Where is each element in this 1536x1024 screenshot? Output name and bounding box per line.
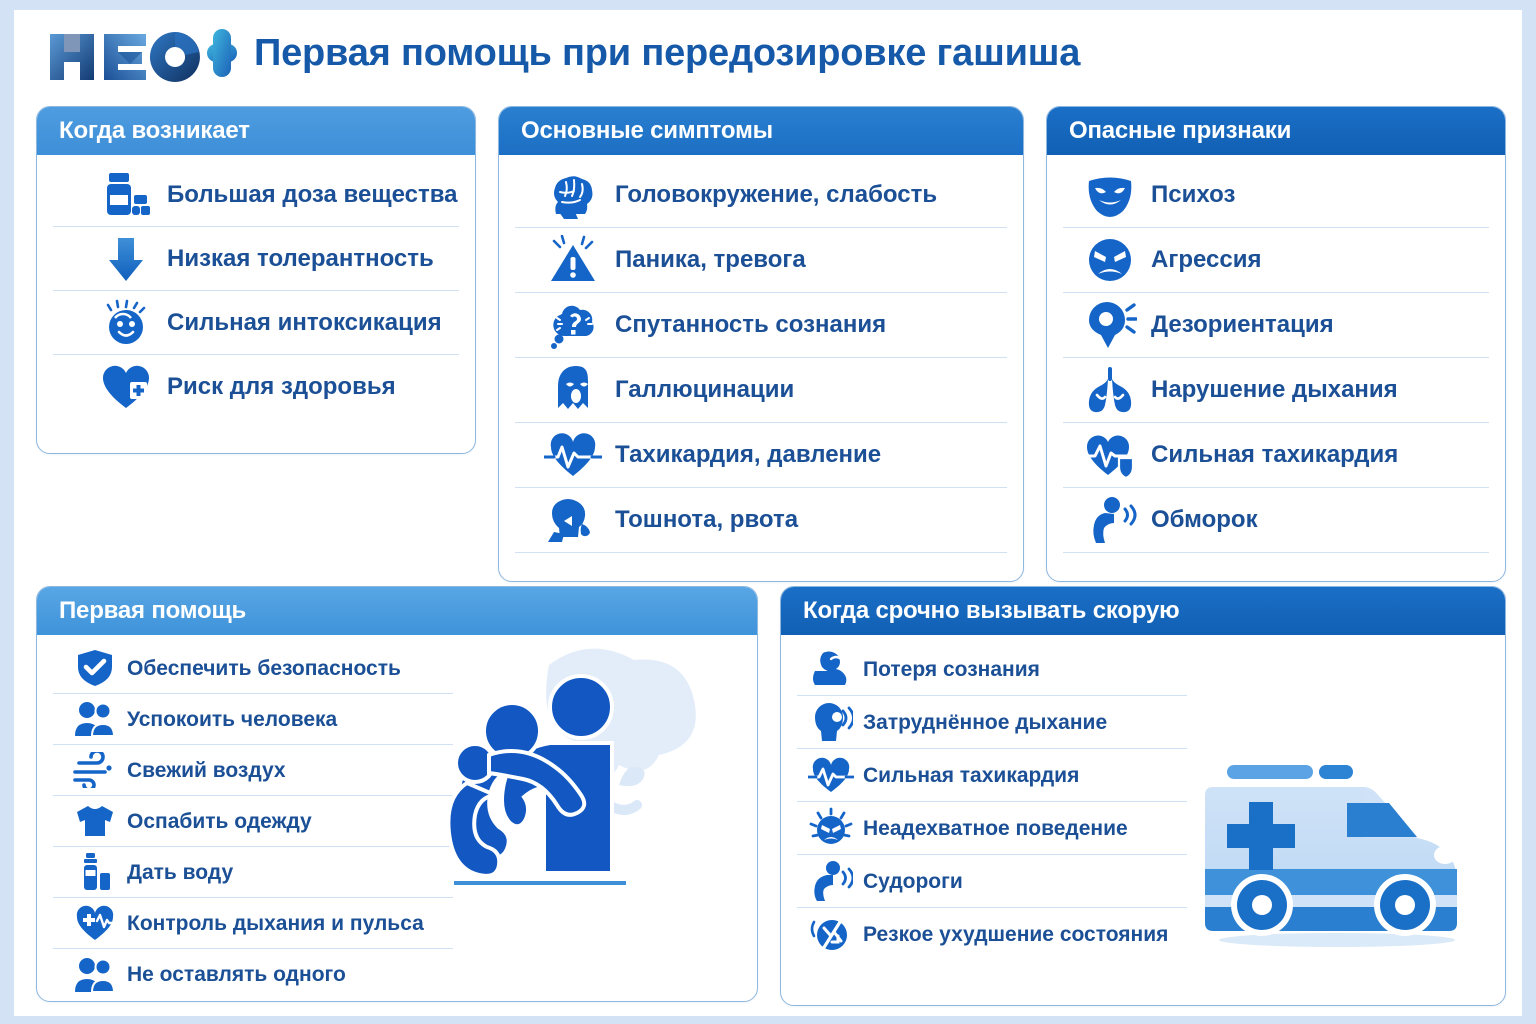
list-item[interactable]: Дать воду [53,847,453,898]
list-item-label: Свежий воздух [127,760,286,781]
heart-cross-pulse-icon [71,901,119,945]
aid-list: Обеспечить безопасность Успокоить челове… [53,643,453,1000]
pill-bottle-icon [95,166,157,224]
lungs-icon [1081,361,1139,419]
card-when-body: Большая доза вещества Низкая толерантнос… [37,155,475,429]
tshirt-icon [71,799,119,843]
list-item[interactable]: Обеспечить безопасность [53,643,453,694]
list-item[interactable]: Неадехватное поведение [797,802,1187,855]
list-item[interactable]: Дезориентация [1063,293,1489,358]
list-item[interactable]: Затруднённое дыхание [797,696,1187,749]
card-danger-body: Психоз Агрессия [1047,155,1505,563]
dizzy-face-icon [95,294,157,352]
list-item[interactable]: Не оставлять одного [53,949,453,1000]
list-item-label: Спутанность сознания [615,313,886,337]
water-bottle-icon [71,850,119,894]
list-item[interactable]: Психоз [1063,163,1489,228]
list-item[interactable]: Низкая толерантность [53,227,459,291]
unconscious-person-icon [807,646,855,692]
list-item-label: Судороги [863,871,963,892]
heart-pulse-icon [807,752,855,798]
list-item-label: Успокоить человека [127,709,337,730]
list-item[interactable]: Тахикардия, давление [515,423,1007,488]
list-item-label: Психоз [1151,183,1235,207]
card-danger-signs: Опасные признаки Психоз [1046,106,1506,582]
card-first-aid: Первая помощь Обеспечить безопасность [36,586,758,1002]
list-item[interactable]: Галлюцинации [515,358,1007,423]
list-item[interactable]: Обморок [1063,488,1489,553]
list-item-label: Затруднённое дыхание [863,712,1107,733]
ambulance-illustration [1187,745,1487,965]
heart-cross-icon [95,358,157,416]
card-when-it-occurs: Когда возникает Большая доза вещества [36,106,476,454]
card-symptoms-title: Основные симптомы [499,107,1023,155]
list-item[interactable]: Сильная интоксикация [53,291,459,355]
card-aid-body: Обеспечить безопасность Успокоить челове… [37,635,757,1002]
list-item-label: Резкое ухудшение состояния [863,924,1168,945]
list-item-label: Большая доза вещества [167,183,458,207]
card-call-title: Когда срочно вызывать скорую [781,587,1505,635]
heart-pulse-shield-icon [1081,426,1139,484]
heart-pulse-icon [543,426,603,484]
list-item-label: Контроль дыхания и пульса [127,913,424,934]
warning-triangle-icon [543,231,603,289]
list-item-label: Риск для здоровья [167,375,396,399]
list-item[interactable]: Сильная тахикардия [1063,423,1489,488]
two-people-icon [71,953,119,997]
list-item-label: Низкая толерантность [167,247,434,271]
list-item-label: Оспабить одежду [127,811,312,832]
two-people-supporting-illustration [449,635,739,975]
angry-rays-face-icon [807,805,855,851]
list-item-label: Потеря сознания [863,659,1040,680]
two-people-icon [71,697,119,741]
question-cloud-icon [543,296,603,354]
brain-head-icon [543,166,603,224]
page-title: Первая помощь при передозировке гашиша [254,32,1080,75]
confused-head-icon [1081,296,1139,354]
list-item-label: Паника, тревога [615,248,806,272]
list-item[interactable]: Резкое ухудшение состояния [797,908,1187,961]
card-when-to-call-ambulance: Когда срочно вызывать скорую Потеря созн… [780,586,1506,1006]
down-trend-circle-icon [807,912,855,958]
list-item-label: Неадехватное поведение [863,818,1128,839]
list-item-label: Обморок [1151,508,1258,532]
list-item-label: Сильная тахикардия [1151,443,1398,467]
page-header: Первая помощь при передозировке гашиша [14,10,1522,102]
breathing-head-icon [807,699,855,745]
list-item[interactable]: Сильная тахикардия [797,749,1187,802]
list-item-label: Не оставлять одного [127,964,346,985]
infographic-page: Первая помощь при передозировке гашиша К… [14,10,1522,1016]
list-item-label: Нарушение дыхания [1151,378,1398,402]
list-item[interactable]: Большая доза вещества [53,163,459,227]
list-item-label: Обеспечить безопасность [127,658,401,679]
list-item[interactable]: Паника, тревога [515,228,1007,293]
list-item-label: Дезориентация [1151,313,1334,337]
list-item[interactable]: Головокружение, слабость [515,163,1007,228]
ghost-icon [543,361,603,419]
list-item-label: Галлюцинации [615,378,794,402]
card-danger-title: Опасные признаки [1047,107,1505,155]
list-item[interactable]: Нарушение дыхания [1063,358,1489,423]
neo-plus-logo [44,26,244,88]
card-call-body: Потеря сознания Затруднённое дыхание [781,635,1505,971]
list-item[interactable]: Свежий воздух [53,745,453,796]
card-main-symptoms: Основные симптомы Головокружение, слабос… [498,106,1024,582]
wind-icon [71,748,119,792]
call-list: Потеря сознания Затруднённое дыхание [797,643,1187,961]
fainting-person-icon [1081,491,1139,549]
list-item[interactable]: Оспабить одежду [53,796,453,847]
list-item[interactable]: Тошнота, рвота [515,488,1007,553]
shield-check-icon [71,646,119,690]
down-arrow-icon [95,230,157,288]
list-item[interactable]: Судороги [797,855,1187,908]
card-when-title: Когда возникает [37,107,475,155]
list-item-label: Головокружение, слабость [615,183,937,207]
list-item-label: Тошнота, рвота [615,508,798,532]
seizure-person-icon [807,858,855,904]
list-item[interactable]: Контроль дыхания и пульса [53,898,453,949]
list-item-label: Сильная тахикардия [863,765,1079,786]
list-item[interactable]: Потеря сознания [797,643,1187,696]
list-item-label: Сильная интоксикация [167,311,442,335]
angry-face-icon [1081,231,1139,289]
vomiting-head-icon [543,491,603,549]
list-item[interactable]: Успокоить человека [53,694,453,745]
list-item[interactable]: Риск для здоровья [53,355,459,419]
card-aid-title: Первая помощь [37,587,757,635]
evil-mask-icon [1081,166,1139,224]
list-item[interactable]: Агрессия [1063,228,1489,293]
list-item-label: Тахикардия, давление [615,443,881,467]
card-symptoms-body: Головокружение, слабость Паника, тревога [499,155,1023,563]
list-item-label: Дать воду [127,862,233,883]
list-item[interactable]: Спутанность сознания [515,293,1007,358]
list-item-label: Агрессия [1151,248,1261,272]
